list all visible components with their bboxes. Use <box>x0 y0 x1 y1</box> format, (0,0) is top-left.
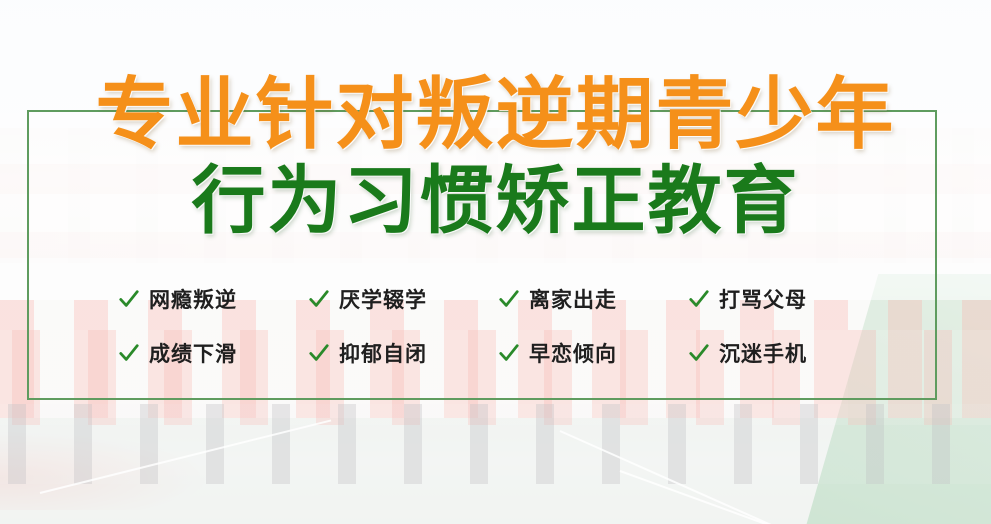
feature-row: 成绩下滑 抑郁自闭 早恋倾向 <box>118 326 878 380</box>
feature-item[interactable]: 抑郁自闭 <box>308 338 498 368</box>
feature-item[interactable]: 打骂父母 <box>688 284 878 314</box>
feature-label: 网瘾叛逆 <box>149 284 237 314</box>
headline-secondary: 行为习惯矫正教育 <box>0 158 991 244</box>
check-icon <box>308 342 330 364</box>
feature-label: 厌学辍学 <box>339 284 427 314</box>
check-icon <box>118 288 140 310</box>
feature-label: 成绩下滑 <box>149 338 237 368</box>
feature-item[interactable]: 厌学辍学 <box>308 284 498 314</box>
check-icon <box>308 288 330 310</box>
feature-label: 打骂父母 <box>719 284 807 314</box>
feature-item[interactable]: 离家出走 <box>498 284 688 314</box>
check-icon <box>498 342 520 364</box>
check-icon <box>498 288 520 310</box>
feature-item[interactable]: 网瘾叛逆 <box>118 284 308 314</box>
feature-list: 网瘾叛逆 厌学辍学 离家出走 <box>118 272 878 380</box>
promo-banner: 专业针对叛逆期青少年 行为习惯矫正教育 网瘾叛逆 厌学辍学 <box>0 0 991 524</box>
feature-item[interactable]: 早恋倾向 <box>498 338 688 368</box>
banner-content: 专业针对叛逆期青少年 行为习惯矫正教育 网瘾叛逆 厌学辍学 <box>0 0 991 524</box>
feature-item[interactable]: 沉迷手机 <box>688 338 878 368</box>
feature-label: 早恋倾向 <box>529 338 617 368</box>
feature-row: 网瘾叛逆 厌学辍学 离家出走 <box>118 272 878 326</box>
feature-label: 抑郁自闭 <box>339 338 427 368</box>
feature-label: 沉迷手机 <box>719 338 807 368</box>
feature-item[interactable]: 成绩下滑 <box>118 338 308 368</box>
check-icon <box>688 342 710 364</box>
check-icon <box>118 342 140 364</box>
check-icon <box>688 288 710 310</box>
feature-label: 离家出走 <box>529 284 617 314</box>
headline-primary: 专业针对叛逆期青少年 <box>0 70 991 158</box>
